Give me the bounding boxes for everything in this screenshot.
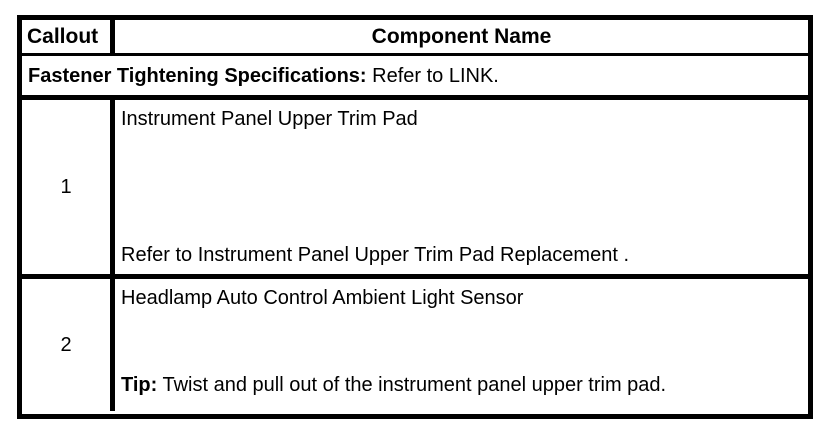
callout-number-cell-1: 1	[22, 100, 115, 274]
callout-table: Callout Component Name Fastener Tighteni…	[17, 15, 813, 419]
component-name-1: Instrument Panel Upper Trim Pad	[121, 109, 808, 129]
header-label-component-name: Component Name	[372, 26, 552, 47]
header-cell-callout: Callout	[22, 20, 115, 53]
callout-number-cell-2: 2	[22, 279, 115, 411]
tip-label-2: Tip:	[121, 374, 157, 396]
fastener-spec-cell: Fastener Tightening Specifications: Refe…	[22, 56, 808, 95]
tip-text-2: Twist and pull out of the instrument pan…	[157, 374, 666, 396]
component-tip-2: Tip: Twist and pull out of the instrumen…	[121, 375, 666, 395]
page-root: Callout Component Name Fastener Tighteni…	[0, 0, 832, 438]
fastener-spec-label: Fastener Tightening Specifications:	[28, 65, 367, 87]
table-header-row: Callout Component Name	[22, 20, 808, 56]
table-row: 2 Headlamp Auto Control Ambient Light Se…	[22, 279, 808, 411]
header-cell-component-name: Component Name	[115, 20, 808, 53]
fastener-spec-text: Fastener Tightening Specifications: Refe…	[28, 66, 499, 86]
table-row: 1 Instrument Panel Upper Trim Pad Refer …	[22, 100, 808, 279]
component-cell-2: Headlamp Auto Control Ambient Light Sens…	[115, 279, 808, 411]
header-label-callout: Callout	[27, 26, 98, 47]
callout-number-1: 1	[60, 177, 71, 197]
callout-number-2: 2	[60, 335, 71, 355]
fastener-spec-row: Fastener Tightening Specifications: Refe…	[22, 56, 808, 100]
fastener-spec-value[interactable]: Refer to LINK.	[367, 65, 499, 87]
component-reference-link-1[interactable]: Refer to Instrument Panel Upper Trim Pad…	[121, 245, 629, 265]
component-name-2: Headlamp Auto Control Ambient Light Sens…	[121, 288, 808, 308]
component-cell-1: Instrument Panel Upper Trim Pad Refer to…	[115, 100, 808, 274]
